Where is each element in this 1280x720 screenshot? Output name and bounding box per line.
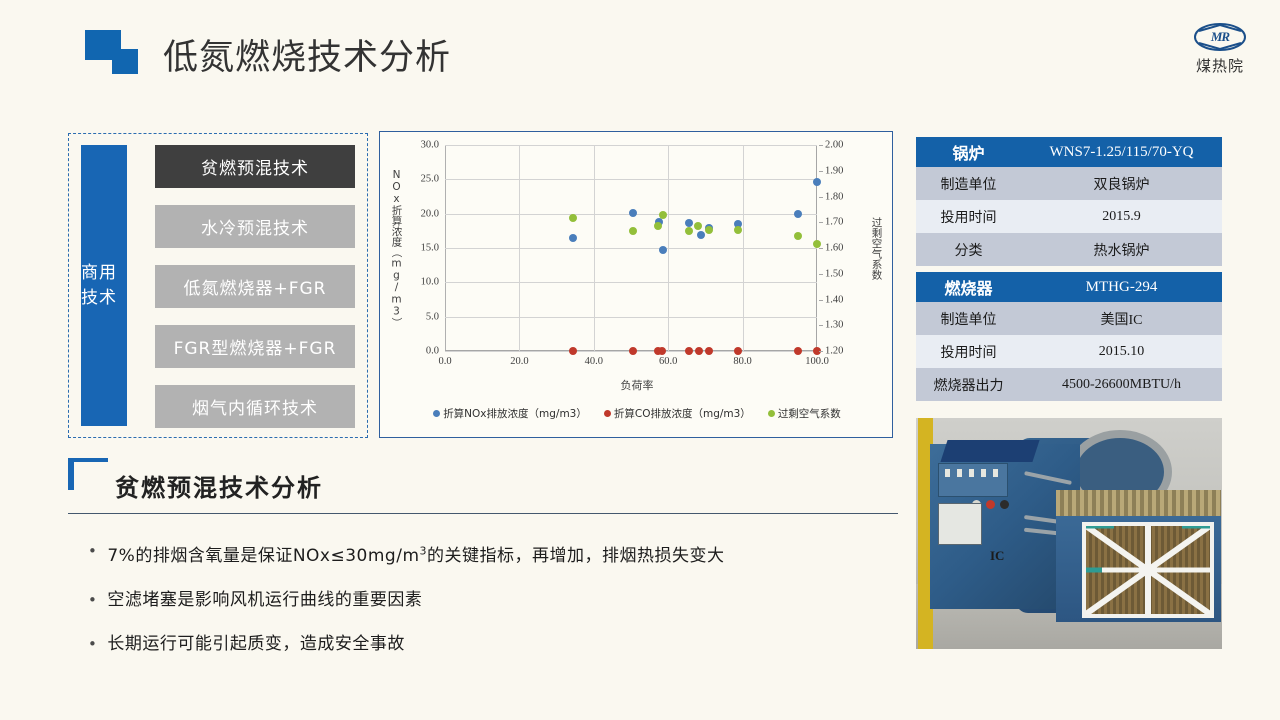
burner-hood bbox=[940, 440, 1039, 462]
bullet-dot-icon: • bbox=[88, 589, 97, 611]
row-key: 制造单位 bbox=[916, 309, 1021, 329]
chart-data-point bbox=[569, 234, 577, 242]
chart-x-tick: 100.0 bbox=[805, 356, 829, 367]
corner-bracket-icon bbox=[68, 458, 108, 490]
chart-data-point bbox=[813, 240, 821, 248]
boiler-header-value: WNS7-1.25/115/70-YQ bbox=[1021, 144, 1222, 161]
chart-x-tick: 60.0 bbox=[659, 356, 677, 367]
section-title: 贫燃预混技术分析 bbox=[115, 468, 323, 503]
tech-item-lean-premix[interactable]: 贫燃预混技术 bbox=[155, 145, 355, 188]
row-value: 美国IC bbox=[1021, 309, 1222, 329]
tech-item-label: FGR型燃烧器+FGR bbox=[174, 334, 337, 359]
chart-y-tick: 20.0 bbox=[421, 208, 439, 219]
row-value: 热水锅炉 bbox=[1021, 240, 1222, 260]
table-row: 制造单位 美国IC bbox=[916, 302, 1222, 335]
bullet-text: 空滤堵塞是影响风机运行曲线的重要因素 bbox=[107, 589, 422, 611]
table-row: 投用时间 2015.9 bbox=[916, 200, 1222, 233]
chart-data-point bbox=[813, 178, 821, 186]
chart-gridline bbox=[668, 145, 669, 351]
tech-item-list: 贫燃预混技术 水冷预混技术 低氮燃烧器+FGR FGR型燃烧器+FGR 烟气内循… bbox=[155, 145, 355, 428]
chart-gridline bbox=[743, 145, 744, 351]
chart-y-axis-label: NOx折算浓度（mg/m3） bbox=[388, 145, 406, 351]
tech-panel-label: 商用技术 bbox=[81, 145, 127, 426]
legend-label: 折算CO排放浓度（mg/m3） bbox=[614, 406, 751, 421]
section-divider bbox=[68, 513, 898, 514]
commercial-tech-panel: 商用技术 贫燃预混技术 水冷预混技术 低氮燃烧器+FGR FGR型燃烧器+FGR… bbox=[68, 133, 368, 438]
burner-table-header: 燃烧器 MTHG-294 bbox=[916, 272, 1222, 302]
corporate-name: 煤热院 bbox=[1182, 55, 1258, 76]
chart-y2-tick: 1.20 bbox=[825, 346, 843, 357]
chart-y-tick: 5.0 bbox=[426, 311, 439, 322]
chart-y-tick: 10.0 bbox=[421, 277, 439, 288]
display-screen bbox=[938, 503, 982, 545]
chart-data-point bbox=[658, 347, 666, 355]
chart-data-point bbox=[659, 246, 667, 254]
chart-y2-tick: 1.60 bbox=[825, 243, 843, 254]
control-panel bbox=[938, 463, 1008, 497]
row-key: 制造单位 bbox=[916, 174, 1021, 194]
emissions-scatter-chart: NOx折算浓度（mg/m3） 过剩空气系数 负荷率 折算NOx排放浓度（mg/m… bbox=[379, 131, 893, 438]
tech-item-label: 水冷预混技术 bbox=[201, 214, 309, 239]
chart-data-point bbox=[695, 347, 703, 355]
bullet-list: • 7%的排烟含氧量是保证NOx≤30mg/m3的关键指标，再增加，排烟热损失变… bbox=[88, 540, 898, 677]
chart-data-point bbox=[794, 232, 802, 240]
emergency-button bbox=[986, 500, 995, 509]
chart-data-point bbox=[569, 214, 577, 222]
tech-item-fgr-burner-fgr[interactable]: FGR型燃烧器+FGR bbox=[155, 325, 355, 368]
chart-y2-tick: 1.30 bbox=[825, 320, 843, 331]
chart-data-point bbox=[697, 231, 705, 239]
legend-item-excess-air: 过剩空气系数 bbox=[768, 406, 841, 421]
list-item: • 长期运行可能引起质变，造成安全事故 bbox=[88, 633, 898, 655]
chart-data-point bbox=[569, 347, 577, 355]
tech-item-internal-recirculation[interactable]: 烟气内循环技术 bbox=[155, 385, 355, 428]
legend-label: 折算NOx排放浓度（mg/m3） bbox=[443, 406, 587, 421]
tech-item-label: 烟气内循环技术 bbox=[192, 394, 318, 419]
burner-header-value: MTHG-294 bbox=[1021, 279, 1222, 296]
chart-y-tick: 15.0 bbox=[421, 243, 439, 254]
tech-item-label: 贫燃预混技术 bbox=[201, 154, 309, 179]
air-filter-element bbox=[1082, 522, 1214, 618]
list-item: • 7%的排烟含氧量是保证NOx≤30mg/m3的关键指标，再增加，排烟热损失变… bbox=[88, 540, 898, 567]
chart-y2-tick: 1.50 bbox=[825, 268, 843, 279]
table-row: 制造单位 双良锅炉 bbox=[916, 167, 1222, 200]
chart-gridline bbox=[594, 145, 595, 351]
legend-marker-icon bbox=[604, 410, 611, 417]
chart-data-point bbox=[734, 347, 742, 355]
row-key: 投用时间 bbox=[916, 342, 1021, 362]
chart-y2-axis-label: 过剩空气系数 bbox=[868, 145, 886, 351]
chart-plot-area bbox=[445, 145, 817, 351]
bullet-text: 7%的排烟含氧量是保证NOx≤30mg/m3的关键指标，再增加，排烟热损失变大 bbox=[107, 540, 724, 567]
chart-data-point bbox=[734, 226, 742, 234]
chart-data-point bbox=[629, 227, 637, 235]
chart-data-point bbox=[685, 227, 693, 235]
chart-y2-tick: 1.40 bbox=[825, 294, 843, 305]
chart-y2-tick: 1.80 bbox=[825, 191, 843, 202]
chart-gridline bbox=[445, 248, 817, 249]
chart-data-point bbox=[794, 347, 802, 355]
chart-data-point bbox=[629, 209, 637, 217]
chart-data-point bbox=[659, 211, 667, 219]
chart-data-point bbox=[629, 347, 637, 355]
ic-brand-text: IC bbox=[990, 548, 1004, 564]
row-key: 燃烧器出力 bbox=[916, 375, 1021, 395]
tech-panel-label-text: 商用技术 bbox=[81, 261, 127, 311]
chart-y-tick: 25.0 bbox=[421, 174, 439, 185]
legend-item-nox: 折算NOx排放浓度（mg/m3） bbox=[433, 406, 587, 421]
chart-x-tick: 80.0 bbox=[733, 356, 751, 367]
mr-emblem-icon: MR bbox=[1191, 22, 1249, 52]
chart-data-point bbox=[685, 347, 693, 355]
legend-item-co: 折算CO排放浓度（mg/m3） bbox=[604, 406, 751, 421]
chart-data-point bbox=[694, 222, 702, 230]
row-key: 投用时间 bbox=[916, 207, 1021, 227]
switch-knob bbox=[1000, 500, 1009, 509]
row-key: 分类 bbox=[916, 240, 1021, 260]
chart-gridline bbox=[445, 282, 817, 283]
bullet-dot-icon: • bbox=[88, 540, 97, 562]
bullet-dot-icon: • bbox=[88, 633, 97, 655]
corporate-logo: MR 煤热院 bbox=[1182, 22, 1258, 84]
tech-item-label: 低氮燃烧器+FGR bbox=[183, 274, 326, 299]
chart-x-tick: 40.0 bbox=[585, 356, 603, 367]
chart-data-point bbox=[705, 226, 713, 234]
burner-spec-table: 燃烧器 MTHG-294 制造单位 美国IC 投用时间 2015.10 燃烧器出… bbox=[916, 272, 1222, 401]
chart-gridline bbox=[445, 317, 817, 318]
boiler-header-key: 锅炉 bbox=[916, 140, 1021, 164]
tech-item-water-cooled-premix[interactable]: 水冷预混技术 bbox=[155, 205, 355, 248]
bullet-text: 长期运行可能引起质变，造成安全事故 bbox=[107, 633, 405, 655]
blue-square-logo-icon bbox=[85, 30, 141, 76]
chart-data-point bbox=[654, 222, 662, 230]
row-value: 2015.9 bbox=[1021, 209, 1222, 225]
chart-x-tick: 20.0 bbox=[510, 356, 528, 367]
burner-equipment-photo: IC bbox=[916, 418, 1222, 649]
table-row: 燃烧器出力 4500-26600MBTU/h bbox=[916, 368, 1222, 401]
burner-header-key: 燃烧器 bbox=[916, 275, 1021, 299]
tech-item-lownox-fgr[interactable]: 低氮燃烧器+FGR bbox=[155, 265, 355, 308]
chart-x-tick: 0.0 bbox=[438, 356, 451, 367]
legend-marker-icon bbox=[768, 410, 775, 417]
table-row: 投用时间 2015.10 bbox=[916, 335, 1222, 368]
chart-y2-tick: 1.70 bbox=[825, 217, 843, 228]
chart-data-point bbox=[794, 210, 802, 218]
row-value: 双良锅炉 bbox=[1021, 174, 1222, 194]
list-item: • 空滤堵塞是影响风机运行曲线的重要因素 bbox=[88, 589, 898, 611]
chart-gridline bbox=[445, 179, 817, 180]
row-value: 4500-26600MBTU/h bbox=[1021, 377, 1222, 393]
chart-x-axis-label: 负荷率 bbox=[380, 377, 894, 393]
chart-y2-tick: 1.90 bbox=[825, 165, 843, 176]
legend-label: 过剩空气系数 bbox=[778, 406, 841, 421]
chart-y-tick: 0.0 bbox=[426, 346, 439, 357]
row-value: 2015.10 bbox=[1021, 344, 1222, 360]
chart-gridline bbox=[519, 145, 520, 351]
legend-marker-icon bbox=[433, 410, 440, 417]
chart-y-tick: 30.0 bbox=[421, 140, 439, 151]
chart-gridline bbox=[445, 145, 817, 146]
table-row: 分类 热水锅炉 bbox=[916, 233, 1222, 266]
page-title: 低氮燃烧技术分析 bbox=[163, 29, 451, 80]
air-filter-housing bbox=[1056, 490, 1221, 622]
chart-data-point bbox=[705, 347, 713, 355]
chart-legend: 折算NOx排放浓度（mg/m3） 折算CO排放浓度（mg/m3） 过剩空气系数 bbox=[380, 406, 894, 421]
mr-mark-text: MR bbox=[1191, 22, 1249, 52]
boiler-table-header: 锅炉 WNS7-1.25/115/70-YQ bbox=[916, 137, 1222, 167]
chart-y2-tick: 2.00 bbox=[825, 140, 843, 151]
slide-header: 低氮燃烧技术分析 MR 煤热院 bbox=[0, 0, 1280, 105]
boiler-spec-table: 锅炉 WNS7-1.25/115/70-YQ 制造单位 双良锅炉 投用时间 20… bbox=[916, 137, 1222, 266]
